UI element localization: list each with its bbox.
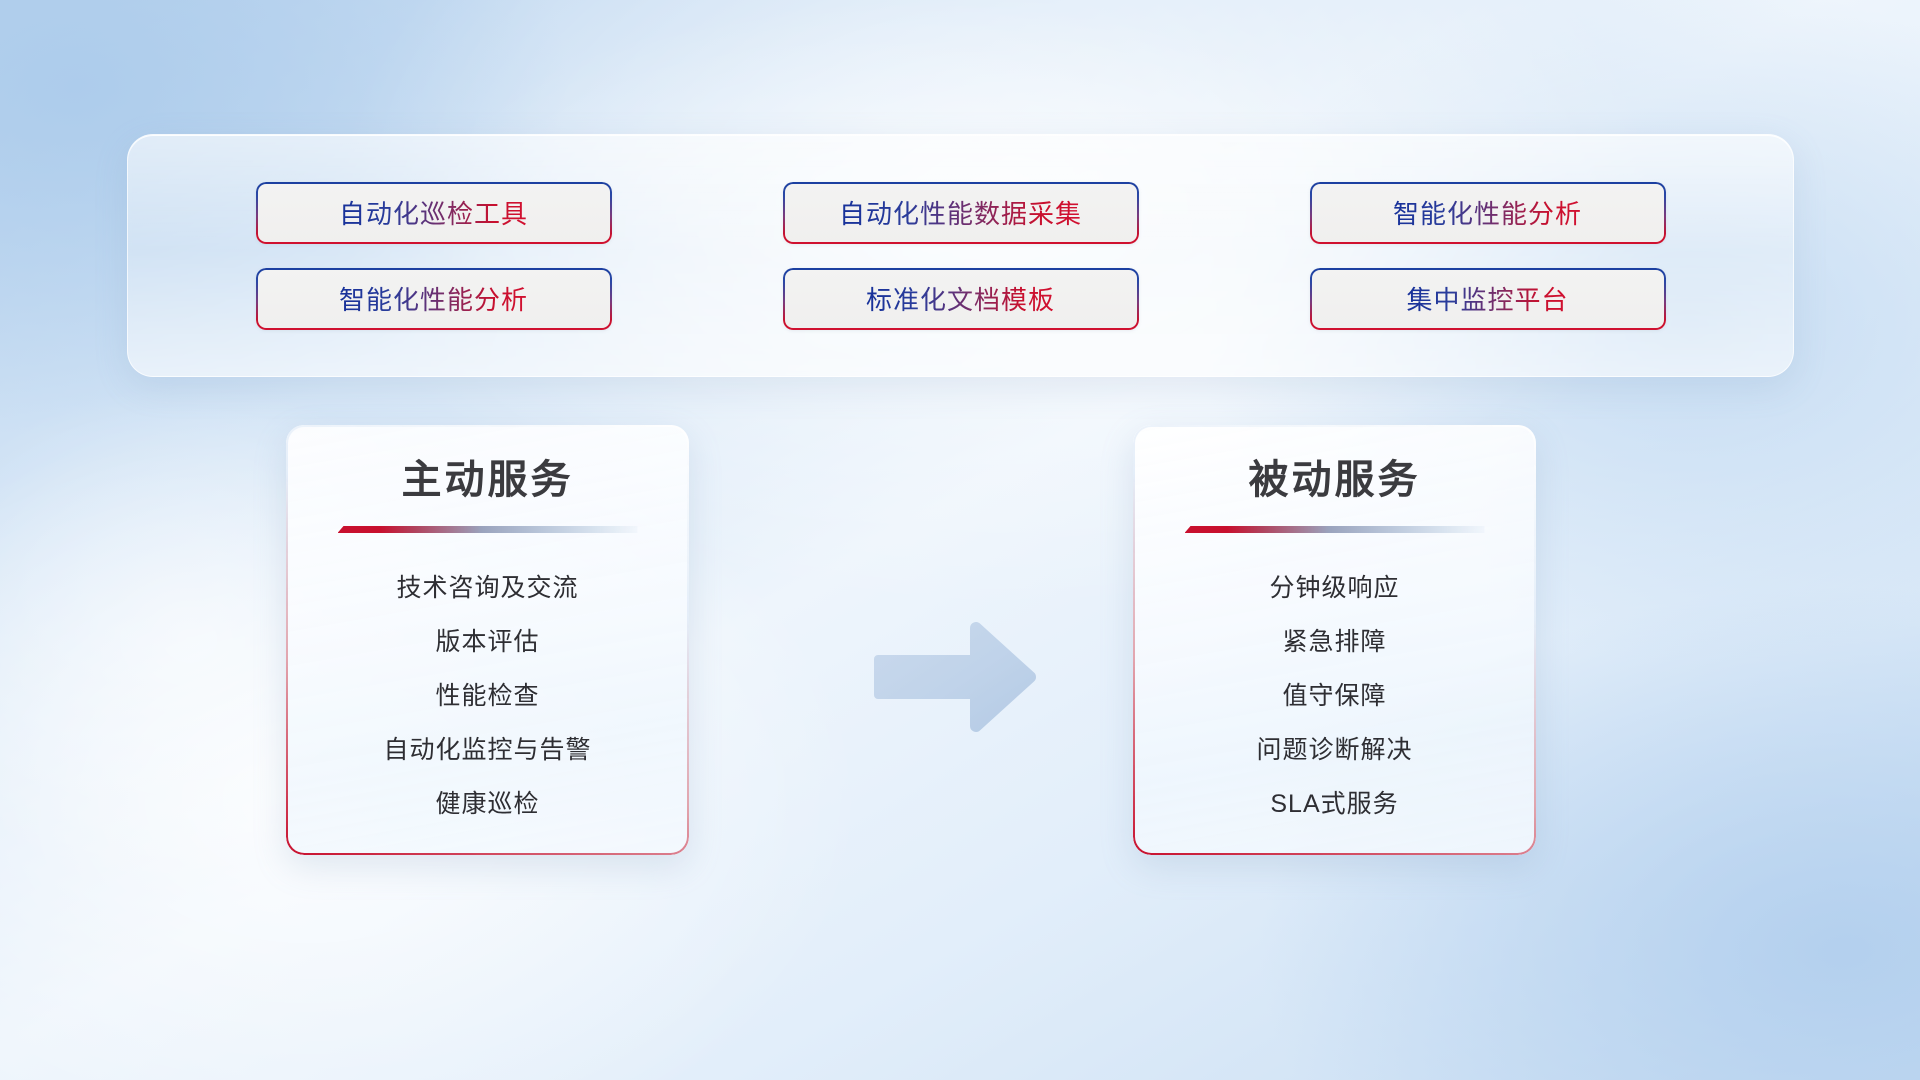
- service-item-list: 分钟级响应 紧急排障 值守保障 问题诊断解决 SLA式服务: [1133, 573, 1536, 819]
- capability-pill-label: 自动化性能数据采集: [839, 194, 1082, 231]
- list-item: 值守保障: [1282, 681, 1386, 711]
- list-item: 紧急排障: [1282, 627, 1386, 657]
- card-title: 主动服务: [402, 458, 574, 502]
- card-title: 被动服务: [1249, 458, 1421, 502]
- card-accent-bar: [338, 526, 638, 533]
- capability-pill-automated-inspection-tool[interactable]: 自动化巡检工具: [256, 182, 612, 244]
- list-item: 性能检查: [435, 681, 539, 711]
- capability-pill-label: 集中监控平台: [1406, 280, 1568, 317]
- capability-pill-label: 智能化性能分析: [339, 280, 528, 317]
- list-item: 健康巡检: [435, 789, 539, 819]
- flow-arrow-right-icon: [874, 622, 1041, 732]
- list-item: 问题诊断解决: [1256, 735, 1412, 765]
- list-item: 自动化监控与告警: [383, 735, 591, 765]
- service-card-reactive: 被动服务 分钟级响应 紧急排障 值守保障 问题诊断解决 SLA式服务: [1133, 425, 1536, 855]
- card-accent-bar: [1185, 526, 1485, 533]
- service-card-proactive: 主动服务 技术咨询及交流 版本评估 性能检查 自动化监控与告警 健康巡检: [286, 425, 689, 855]
- capability-panel: 自动化巡检工具 自动化性能数据采集 智能化性能分析 智能化性能分析 标准化文档模…: [127, 134, 1794, 377]
- capability-pill-centralized-monitoring-platform[interactable]: 集中监控平台: [1310, 268, 1666, 330]
- list-item: 技术咨询及交流: [396, 573, 578, 603]
- capability-pill-intelligent-performance-analysis[interactable]: 智能化性能分析: [256, 268, 612, 330]
- list-item: 版本评估: [435, 627, 539, 657]
- capability-pill-label: 智能化性能分析: [1393, 194, 1582, 231]
- capability-pill-label: 标准化文档模板: [866, 280, 1055, 317]
- service-item-list: 技术咨询及交流 版本评估 性能检查 自动化监控与告警 健康巡检: [286, 573, 689, 819]
- capability-row-1: 自动化巡检工具 自动化性能数据采集 智能化性能分析: [128, 182, 1793, 244]
- capability-pill-label: 自动化巡检工具: [339, 194, 528, 231]
- capability-pill-intelligent-performance-analysis-top[interactable]: 智能化性能分析: [1310, 182, 1666, 244]
- capability-row-2: 智能化性能分析 标准化文档模板 集中监控平台: [128, 268, 1793, 330]
- capability-pill-automated-performance-data-collection[interactable]: 自动化性能数据采集: [783, 182, 1139, 244]
- capability-pill-standardized-document-template[interactable]: 标准化文档模板: [783, 268, 1139, 330]
- list-item: SLA式服务: [1270, 789, 1398, 819]
- list-item: 分钟级响应: [1269, 573, 1399, 603]
